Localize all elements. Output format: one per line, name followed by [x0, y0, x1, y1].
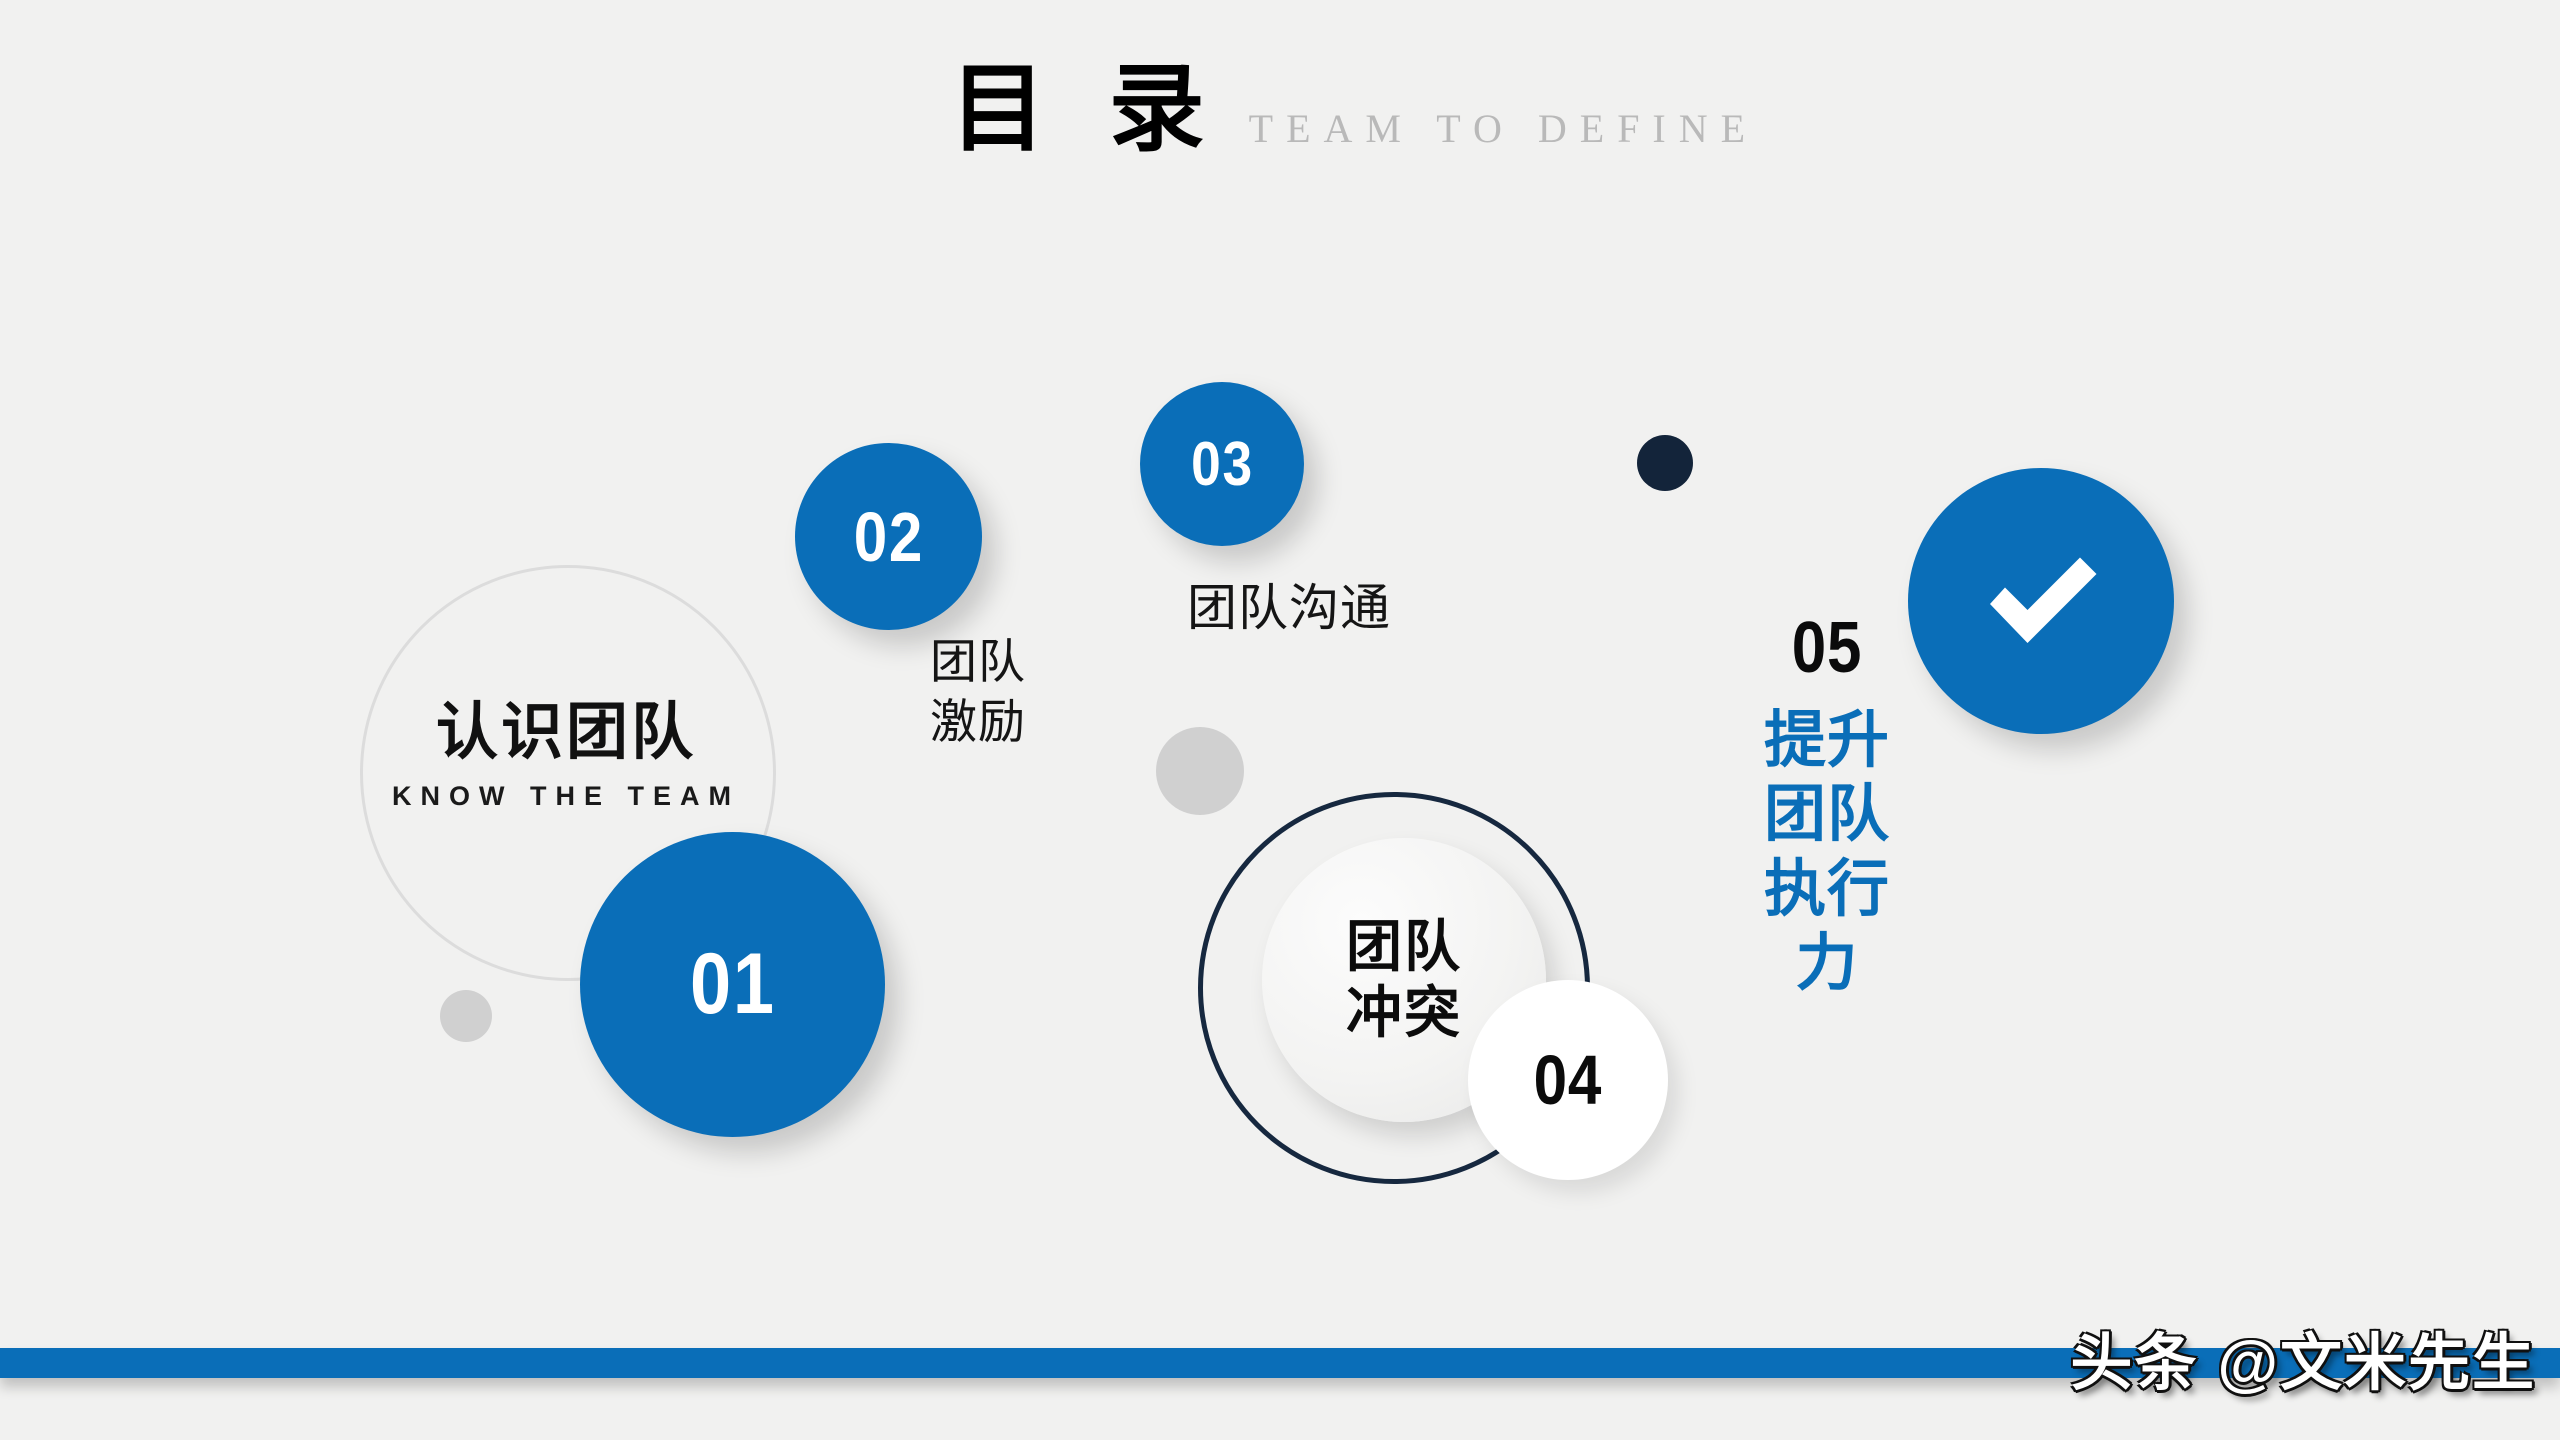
- agenda-item-01-number: 01: [690, 935, 776, 1034]
- agenda-item-05[interactable]: 05 提升团队执行力: [1738, 612, 1916, 1002]
- check-badge: [1908, 468, 2174, 734]
- agenda-item-01-label-en: KNOW THE TEAM: [360, 781, 772, 812]
- slide-canvas: 目 录 TEAM TO DEFINE 认识团队 KNOW THE TEAM 01…: [0, 0, 2560, 1440]
- watermark-text: 头条 @文米先生: [2070, 1312, 2536, 1402]
- page-title: 目 录 TEAM TO DEFINE: [950, 62, 1758, 158]
- agenda-item-02-number-circle[interactable]: 02: [795, 443, 982, 630]
- gray-dot-decoration-medium: [1156, 727, 1244, 815]
- agenda-item-02-label-line1: 团队: [930, 632, 1026, 692]
- agenda-item-04-number-circle[interactable]: 04: [1468, 980, 1668, 1180]
- gray-dot-decoration-small: [440, 990, 492, 1042]
- agenda-item-02-label-line2: 激励: [930, 692, 1026, 752]
- check-icon: [1966, 526, 2116, 676]
- agenda-item-04-label-line1: 团队: [1346, 914, 1462, 980]
- agenda-item-04-label: 团队 冲突: [1346, 914, 1462, 1046]
- agenda-item-01-number-circle[interactable]: 01: [580, 832, 885, 1137]
- agenda-item-02-label: 团队 激励: [930, 632, 1026, 752]
- title-chinese: 目 录: [950, 62, 1223, 158]
- agenda-item-01-label: 认识团队 KNOW THE TEAM: [360, 700, 772, 812]
- agenda-item-03-label: 团队沟通: [1187, 578, 1391, 638]
- agenda-item-01-label-cn: 认识团队: [360, 700, 772, 765]
- agenda-item-04-number: 04: [1534, 1040, 1603, 1120]
- agenda-item-05-label: 提升团队执行力: [1738, 704, 1916, 1002]
- agenda-item-04-label-line2: 冲突: [1346, 980, 1462, 1046]
- agenda-item-05-number: 05: [1750, 612, 1903, 684]
- navy-dot-decoration: [1637, 435, 1693, 491]
- agenda-item-02-number: 02: [853, 497, 923, 577]
- agenda-item-03-number: 03: [1191, 429, 1254, 500]
- agenda-item-03-number-circle[interactable]: 03: [1140, 382, 1304, 546]
- title-english: TEAM TO DEFINE: [1249, 109, 1758, 149]
